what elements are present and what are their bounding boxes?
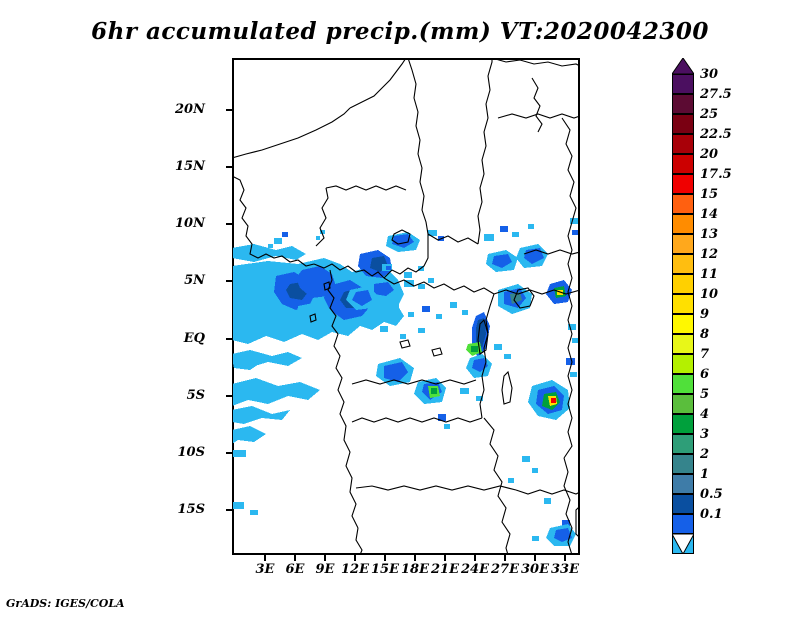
colorbar-tick-label: 1 [700,468,709,481]
x-tick [504,555,506,561]
colorbar-segment [672,194,694,214]
x-tick [384,555,386,561]
colorbar-tick-label: 12 [700,248,718,261]
colorbar-tick-label: 5 [700,388,709,401]
colorbar-segment [672,274,694,294]
colorbar: 3027.52522.52017.51514131211109876543210… [672,58,792,558]
colorbar-segment [672,234,694,254]
colorbar-segment [672,434,694,454]
colorbar-segment [672,134,694,154]
colorbar-under-arrow [672,534,694,550]
colorbar-tick-label: 20 [700,148,718,161]
colorbar-tick-label: 8 [700,328,709,341]
plot-canvas: 6hr accumulated precip.(mm) VT:202004230… [0,0,800,618]
colorbar-segment [672,254,694,274]
colorbar-segment [672,174,694,194]
map-panel [232,58,580,555]
y-tick [226,452,232,454]
colorbar-tick-label: 27.5 [700,88,732,101]
y-axis-label-10n: 10N [145,216,205,231]
colorbar-tick-label: 22.5 [700,128,732,141]
y-axis-label-20n: 20N [145,102,205,117]
colorbar-tick-label: 9 [700,308,709,321]
x-tick [564,555,566,561]
colorbar-segment [672,294,694,314]
colorbar-tick-label: 14 [700,208,718,221]
y-tick [226,395,232,397]
colorbar-tick-label: 25 [700,108,718,121]
precip-field [232,218,578,546]
y-axis-label-eq: EQ [145,331,205,346]
colorbar-segment [672,374,694,394]
colorbar-segment [672,514,694,534]
x-tick [264,555,266,561]
colorbar-segment [672,414,694,434]
colorbar-segment [672,454,694,474]
y-axis-label-10s: 10S [145,445,205,460]
x-tick [414,555,416,561]
colorbar-tick-label: 13 [700,228,718,241]
colorbar-tick-label: 0.1 [700,508,723,521]
colorbar-tick-label: 15 [700,188,718,201]
colorbar-tick-label: 30 [700,68,718,81]
y-tick [226,223,232,225]
colorbar-segment [672,114,694,134]
x-tick [354,555,356,561]
colorbar-segment [672,494,694,514]
x-tick [294,555,296,561]
y-axis-label-5n: 5N [145,273,205,288]
colorbar-segment [672,214,694,234]
y-axis-label-5s: 5S [145,388,205,403]
colorbar-segment [672,74,694,94]
colorbar-segment [672,394,694,414]
page-title: 6hr accumulated precip.(mm) VT:202004230… [0,18,800,45]
colorbar-segment [672,354,694,374]
x-tick [534,555,536,561]
y-axis-label-15s: 15S [145,502,205,517]
colorbar-tick-label: 2 [700,448,709,461]
y-tick [226,280,232,282]
y-tick [226,338,232,340]
colorbar-tick-label: 10 [700,288,718,301]
colorbar-over-arrow [672,58,694,74]
y-tick [226,166,232,168]
x-tick [474,555,476,561]
colorbar-tick-label: 11 [700,268,718,281]
colorbar-tick-label: 7 [700,348,709,361]
colorbar-tick-label: 3 [700,428,709,441]
colorbar-segment [672,334,694,354]
x-tick [444,555,446,561]
x-axis-label-33e: 33E [545,562,585,577]
colorbar-tick-label: 0.5 [700,488,723,501]
x-tick [324,555,326,561]
y-tick [226,109,232,111]
precipitation-map [232,58,580,555]
attribution-text: GrADS: IGES/COLA [6,597,125,610]
colorbar-tick-label: 6 [700,368,709,381]
y-axis-label-15n: 15N [145,159,205,174]
colorbar-segment [672,474,694,494]
y-tick [226,509,232,511]
colorbar-segment [672,154,694,174]
colorbar-segment [672,314,694,334]
colorbar-tick-label: 17.5 [700,168,732,181]
colorbar-segment [672,94,694,114]
colorbar-tick-label: 4 [700,408,709,421]
